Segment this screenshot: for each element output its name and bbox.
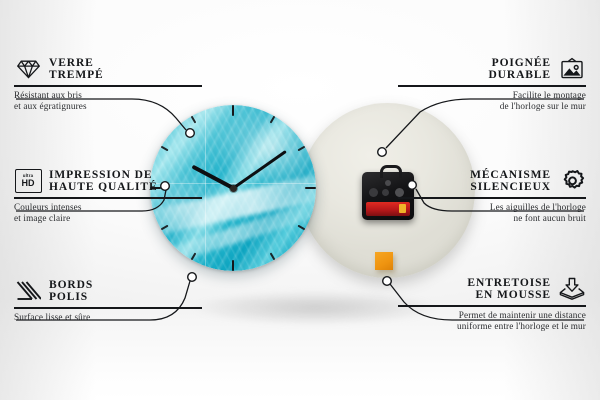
feature-desc-line2: et aux égratignures (14, 101, 202, 113)
feature-desc-line2: ne font aucun bruit (398, 213, 586, 225)
picture-frame-hanger-icon (558, 56, 586, 82)
feature-desc-line1: Couleurs intenses (14, 202, 202, 214)
feature-rule (14, 85, 202, 87)
feature-header: BORDS POLIS (14, 278, 202, 304)
feature-title-line1: BORDS (49, 279, 93, 291)
feature-titles: MÉCANISME SILENCIEUX (470, 169, 551, 193)
clock-tick (232, 105, 234, 116)
feature-rule (398, 85, 586, 87)
feature-desc-line1: Résistant aux bris (14, 90, 202, 102)
feature-description: Facilite le montage de l'horloge sur le … (398, 90, 586, 114)
feature-desc-line2: et image claire (14, 213, 202, 225)
feature-title-line1: MÉCANISME (470, 169, 551, 181)
feature-titles: BORDS POLIS (49, 279, 93, 303)
feature-titles: POIGNÉE DURABLE (488, 57, 551, 81)
feature-title-line1: IMPRESSION DE (49, 169, 158, 181)
feature-header: ultra HD IMPRESSION DE HAUTE QUALITÉ (14, 168, 202, 194)
feature-description: Résistant aux bris et aux égratignures (14, 90, 202, 114)
feature-impression-haute-qualite: ultra HD IMPRESSION DE HAUTE QUALITÉ Cou… (14, 168, 202, 225)
feature-header: VERRE TREMPÉ (14, 56, 202, 82)
feature-title-line2: SILENCIEUX (470, 181, 551, 193)
feature-titles: IMPRESSION DE HAUTE QUALITÉ (49, 169, 158, 193)
diagonal-lines-icon (14, 278, 42, 304)
feature-description: Les aiguilles de l'horloge ne font aucun… (398, 202, 586, 226)
ultra-hd-icon: ultra HD (14, 168, 42, 194)
feature-titles: ENTRETOISE EN MOUSSE (467, 277, 551, 301)
foam-spacer (375, 252, 393, 270)
infographic-canvas: VERRE TREMPÉ Résistant aux bris et aux é… (0, 0, 600, 400)
feature-desc-line1: Permet de maintenir une distance (398, 310, 586, 322)
feature-rule (398, 305, 586, 307)
feature-mecanisme-silencieux: MÉCANISME SILENCIEUX Les aiguilles de l'… (398, 168, 586, 225)
feature-desc-line1: Les aiguilles de l'horloge (398, 202, 586, 214)
feature-desc-line1: Surface lisse et sûre (14, 312, 202, 324)
feature-titles: VERRE TREMPÉ (49, 57, 104, 81)
feature-title-line2: EN MOUSSE (467, 289, 551, 301)
clock-center-hub (230, 185, 237, 192)
feature-title-line1: POIGNÉE (488, 57, 551, 69)
mechanism-knob (382, 189, 389, 196)
clock-tick (305, 187, 316, 189)
feature-header: ENTRETOISE EN MOUSSE (398, 276, 586, 302)
feature-title-line2: POLIS (49, 291, 93, 303)
feature-title-line1: ENTRETOISE (467, 277, 551, 289)
feature-poignee-durable: POIGNÉE DURABLE Facilite le montage de l… (398, 56, 586, 113)
ultra-hd-icon-label-bottom: HD (22, 179, 35, 188)
feature-description: Permet de maintenir une distance uniform… (398, 310, 586, 334)
feature-bords-polis: BORDS POLIS Surface lisse et sûre (14, 278, 202, 323)
feature-verre-trempe: VERRE TREMPÉ Résistant aux bris et aux é… (14, 56, 202, 113)
clock-tick (232, 260, 234, 271)
mechanism-shaft (385, 180, 391, 186)
feature-rule (14, 197, 202, 199)
feature-description: Couleurs intenses et image claire (14, 202, 202, 226)
feature-desc-line1: Facilite le montage (398, 90, 586, 102)
feature-header: POIGNÉE DURABLE (398, 56, 586, 82)
feature-desc-line2: de l'horloge sur le mur (398, 101, 586, 113)
feature-description: Surface lisse et sûre (14, 312, 202, 324)
diamond-icon (14, 56, 42, 82)
feature-title-line1: VERRE (49, 57, 104, 69)
feature-title-line2: HAUTE QUALITÉ (49, 181, 158, 193)
feature-desc-line2: uniforme entre l'horloge et le mur (398, 321, 586, 333)
feature-title-line2: DURABLE (488, 69, 551, 81)
feature-rule (14, 307, 202, 309)
feature-rule (398, 197, 586, 199)
gear-icon (558, 168, 586, 194)
feature-entretoise-en-mousse: ENTRETOISE EN MOUSSE Permet de maintenir… (398, 276, 586, 333)
feature-title-line2: TREMPÉ (49, 69, 104, 81)
mechanism-knob (369, 188, 378, 197)
arrow-down-foam-icon (558, 276, 586, 302)
feature-header: MÉCANISME SILENCIEUX (398, 168, 586, 194)
